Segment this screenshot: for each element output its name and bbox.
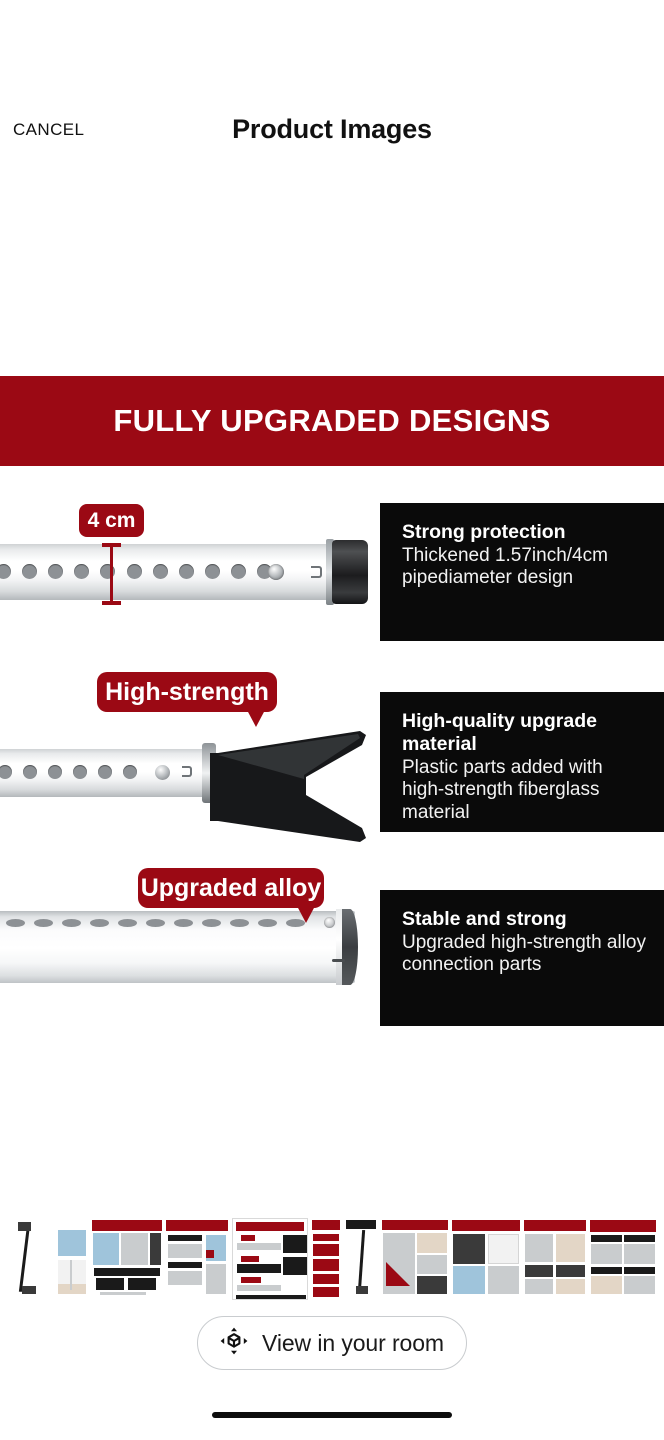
pipe-end-cap [342,909,358,985]
pipe-hole [62,919,81,927]
thumbnail-9[interactable] [452,1218,520,1300]
info-card-high-quality-material: High-quality upgrade material Plastic pa… [380,692,664,832]
pipe-hole [205,564,220,579]
pipe-hole [6,919,25,927]
info-card-title: Strong protection [402,521,648,544]
info-card-strong-protection: Strong protection Thickened 1.57inch/4cm… [380,503,664,641]
pipe-hole [23,765,37,779]
feature-row-high-quality-material: High-strength High-quality upgrade mater… [0,656,664,856]
pipe-hole [179,564,194,579]
feature-row-strong-protection: 4 cm Strong protection Thickened 1.57inc… [0,466,664,656]
pipe-hole [90,919,109,927]
thumbnail-4[interactable] [166,1218,228,1300]
pipe-hole [48,564,63,579]
view-in-your-room-button[interactable]: View in your room [197,1316,467,1370]
pipe-hole [231,564,246,579]
info-card-title: High-quality upgrade material [402,710,648,756]
pipe-hole [258,919,277,927]
callout-badge-4cm: 4 cm [79,504,144,537]
pipe-screw [155,765,170,780]
thumbnail-3[interactable] [92,1218,162,1300]
home-indicator [212,1412,452,1418]
info-card-stable-and-strong: Stable and strong Upgraded high-strength… [380,890,664,1026]
pipe-hole [127,564,142,579]
info-card-body: Plastic parts added with high-strength f… [402,757,648,824]
pipe-hole [34,919,53,927]
pipe-hole [230,919,249,927]
thumbnail-5[interactable] [232,1218,308,1300]
thumbnail-7[interactable] [344,1218,378,1300]
callout-tail [247,710,265,727]
thumbnail-2[interactable] [56,1218,88,1300]
thumbnail-8[interactable] [382,1218,448,1300]
product-images-screen: CANCEL Product Images FULLY UPGRADED DES… [0,0,664,1440]
pipe-hole [22,564,37,579]
pipe-slot [332,959,345,962]
feature-row-stable-and-strong: Upgraded alloy Stable and strong Upgrade… [0,856,664,1036]
pipe-hole [98,765,112,779]
fully-upgraded-designs-banner: FULLY UPGRADED DESIGNS [0,376,664,466]
thumbnail-strip[interactable] [0,1218,664,1304]
pipe-end-cap [332,540,368,604]
callout-badge-high-strength: High-strength [97,672,277,712]
page-title: Product Images [0,114,664,145]
pipe-marking [182,766,192,777]
pipe-hole [73,765,87,779]
ar-cube-icon [220,1327,248,1360]
thumbnail-1[interactable] [2,1218,52,1300]
pipe-hole [123,765,137,779]
pipe-hole [48,765,62,779]
info-card-title: Stable and strong [402,908,648,931]
header-bar: CANCEL Product Images [0,0,664,180]
fork-bracket [210,729,370,849]
banner-text: FULLY UPGRADED DESIGNS [113,403,550,439]
measure-bar [110,545,113,603]
ar-button-label: View in your room [262,1330,444,1357]
pipe-hole [74,564,89,579]
measure-cap-bottom [102,601,121,605]
thumbnail-10[interactable] [524,1218,586,1300]
pipe-marking [311,566,322,578]
pipe-hole [202,919,221,927]
pipe-hole [146,919,165,927]
info-card-body: Thickened 1.57inch/4cm pipediameter desi… [402,545,648,590]
thumbnail-11[interactable] [590,1218,656,1300]
pipe-hole [118,919,137,927]
callout-tail [297,906,315,923]
callout-badge-upgraded-alloy: Upgraded alloy [138,868,324,908]
pipe-hole [153,564,168,579]
pipe-hole [174,919,193,927]
info-card-body: Upgraded high-strength alloy connection … [402,932,648,977]
pipe-pin [324,917,335,928]
thumbnail-6[interactable] [312,1218,340,1300]
pipe-screw [268,564,284,580]
